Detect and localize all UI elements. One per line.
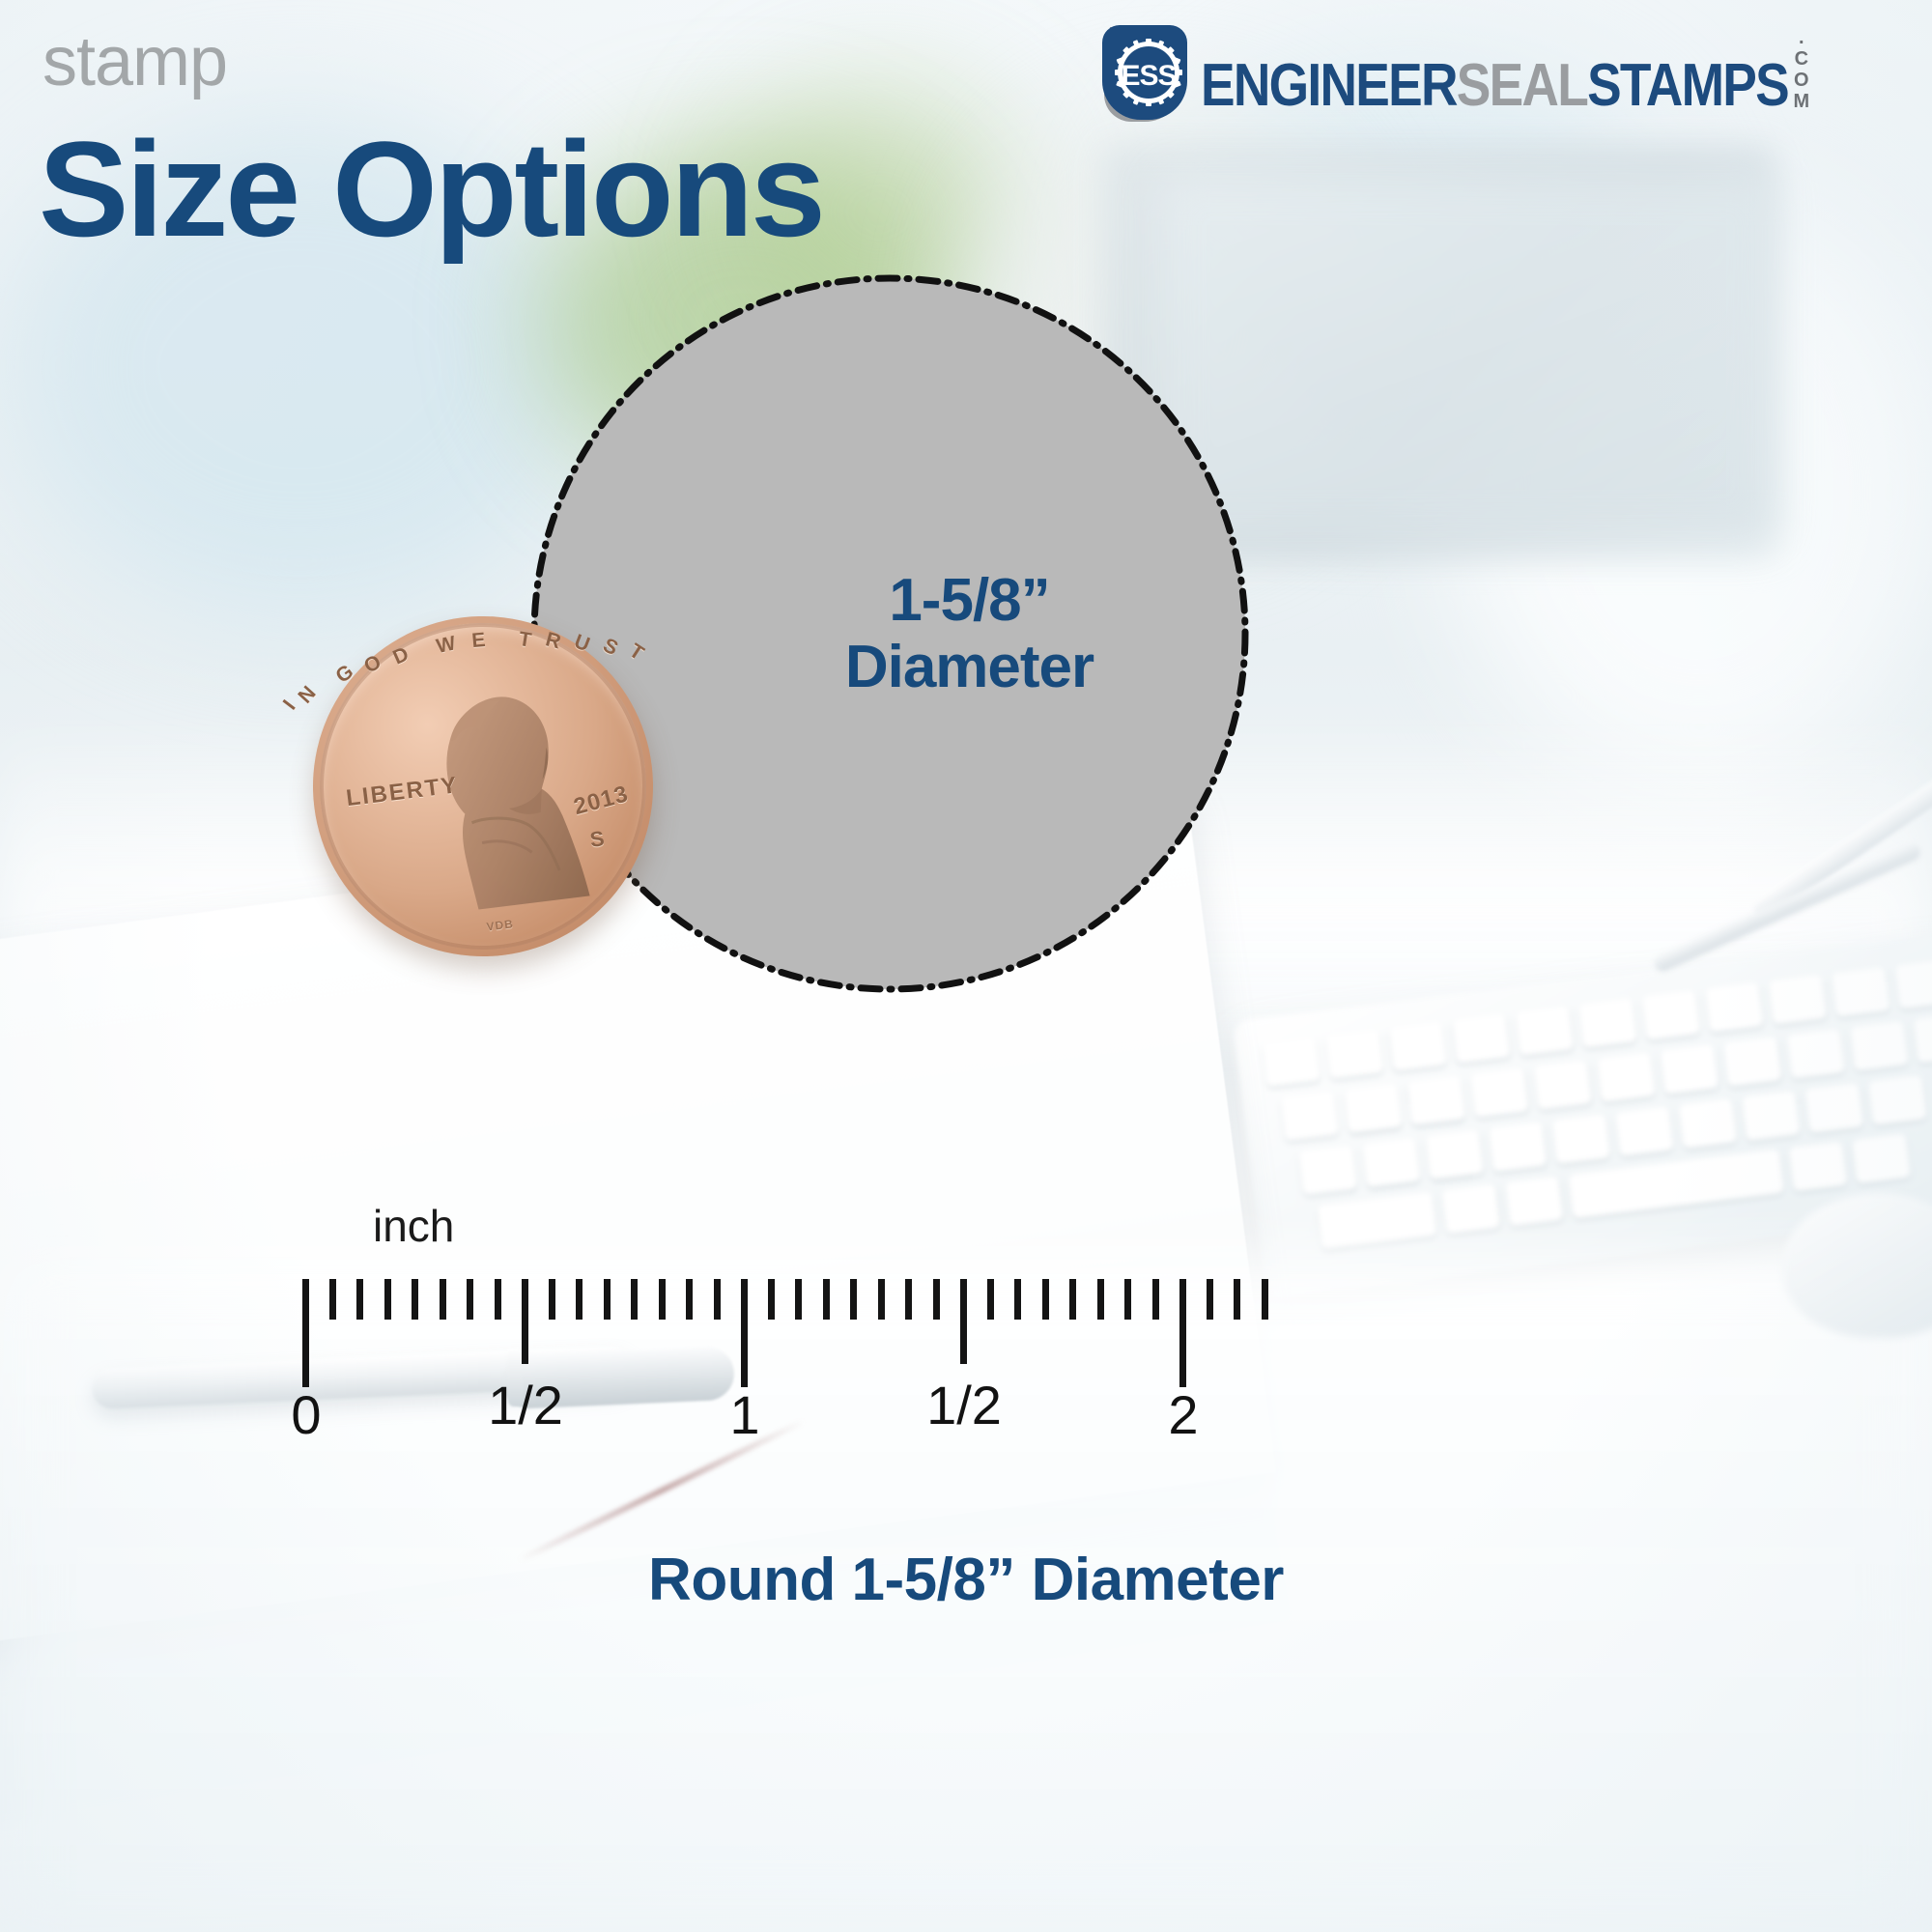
coin-year-text: 2013 [571,781,632,821]
logo-word-engineer: ENGINEER [1201,56,1457,116]
page-title: Size Options [39,122,823,257]
logo-word-seal: SEAL [1457,56,1587,116]
penny-reference-coin: IN GOD WE TRUST LIBERTY 2013 S VDB [294,597,672,976]
logo-wordmark: ENGINEERSEALSTAMPS.COM [1201,27,1809,116]
svg-text:ESS: ESS [1122,60,1177,92]
size-caption: Round 1-5/8” Diameter [0,1546,1932,1614]
coin-mint-mark: S [588,826,606,853]
engineer-seal-stamps-logo[interactable]: ESS ENGINEERSEALSTAMPS.COM [1093,15,1909,128]
coin-designer-initials: VDB [486,917,515,933]
logo-word-stamps: STAMPS [1587,56,1788,116]
logo-word-com: .COM [1792,27,1811,112]
brand-word: stamp [43,27,227,97]
coin-liberty-text: LIBERTY [345,772,460,812]
size-options-graphic: stamp Size Options [0,0,1932,1932]
ess-badge-icon: ESS [1093,17,1201,126]
